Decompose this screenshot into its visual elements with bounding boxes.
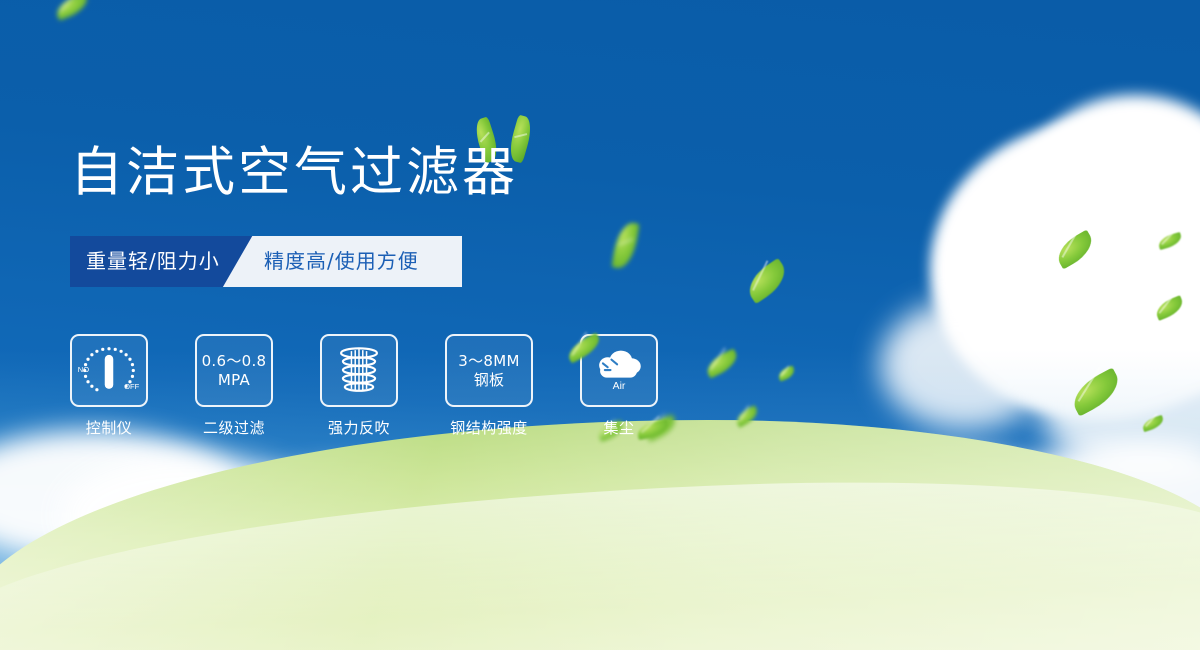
feature-item-backblow[interactable]: 强力反吹 bbox=[320, 334, 398, 438]
hero-banner: 自洁式空气过滤器 重量轻/阻力小 精度高/使用方便 bbox=[0, 0, 1200, 650]
steel-value-line-1: 3～8MM bbox=[458, 352, 519, 371]
pressure-value-line-1: 0.6～0.8 bbox=[202, 352, 267, 371]
feature-label: 控制仪 bbox=[86, 417, 133, 438]
feature-label: 钢结构强度 bbox=[450, 417, 528, 438]
feature-label: 强力反吹 bbox=[328, 417, 390, 438]
air-cloud-label: Air bbox=[613, 381, 626, 392]
air-cloud-icon: Air bbox=[582, 336, 656, 405]
gauge-right-label: OFF bbox=[124, 382, 139, 391]
feature-label: 二级过滤 bbox=[203, 417, 265, 438]
feature-icon-box bbox=[320, 334, 398, 407]
subtitle-banner: 重量轻/阻力小 精度高/使用方便 bbox=[70, 236, 462, 287]
pressure-value-line-2: MPA bbox=[218, 371, 250, 390]
subtitle-right-text: 精度高/使用方便 bbox=[264, 236, 419, 287]
feature-icon-box: 0.6～0.8 MPA bbox=[195, 334, 273, 407]
feature-icon-box: 3～8MM 钢板 bbox=[445, 334, 533, 407]
feature-item-steel[interactable]: 3～8MM 钢板 钢结构强度 bbox=[445, 334, 533, 438]
steel-value-line-2: 钢板 bbox=[474, 371, 505, 390]
feature-icon-box: NO OFF bbox=[70, 334, 148, 407]
gauge-left-label: NO bbox=[78, 365, 89, 374]
feature-item-controller[interactable]: NO OFF 控制仪 bbox=[70, 334, 148, 438]
feature-label: 集尘 bbox=[603, 417, 634, 438]
subtitle-left-text: 重量轻/阻力小 bbox=[86, 236, 220, 287]
feature-item-filtration[interactable]: 0.6～0.8 MPA 二级过滤 bbox=[195, 334, 273, 438]
filter-stack-icon bbox=[322, 336, 396, 405]
feature-list: NO OFF 控制仪 0.6～0.8 MPA 二级过滤 bbox=[70, 334, 658, 438]
gauge-dial-icon: NO OFF bbox=[72, 336, 146, 405]
feature-icon-box: Air bbox=[580, 334, 658, 407]
feature-item-dust[interactable]: Air 集尘 bbox=[580, 334, 658, 438]
page-title: 自洁式空气过滤器 bbox=[70, 146, 518, 199]
banner-content: 自洁式空气过滤器 重量轻/阻力小 精度高/使用方便 bbox=[0, 0, 1200, 650]
